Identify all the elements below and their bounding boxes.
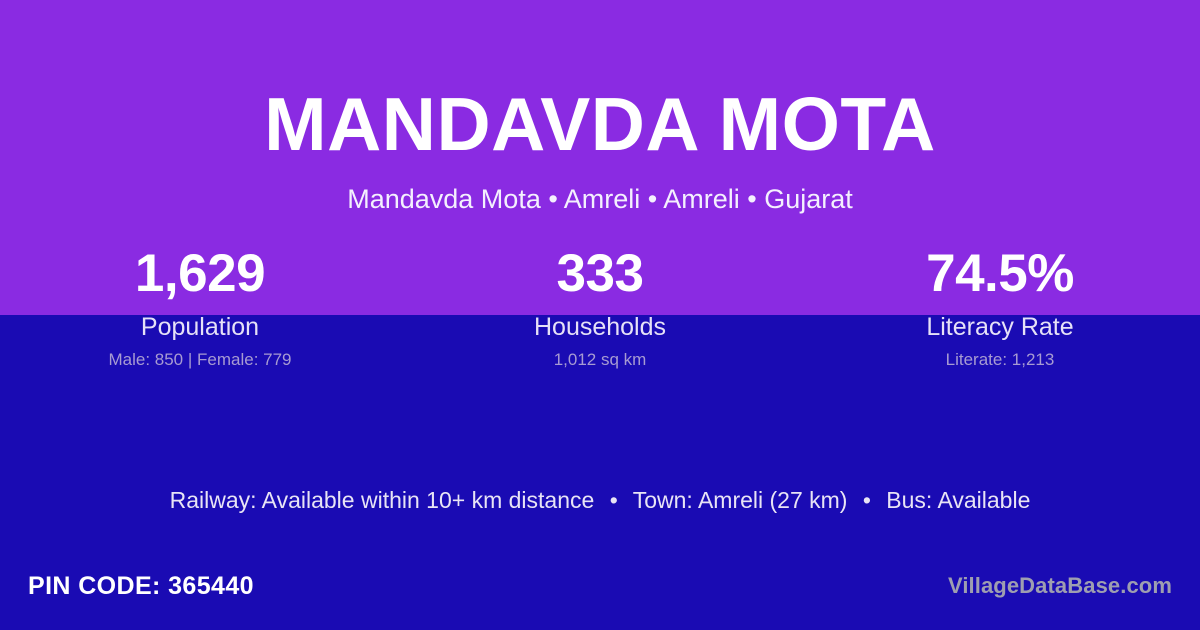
bullet-separator-icon: •: [601, 485, 627, 515]
stat-population-label: Population: [0, 313, 400, 342]
stat-literacy: 74.5% Literacy Rate Literate: 1,213: [800, 243, 1200, 370]
footer: PIN CODE: 365440 VillageDataBase.com: [0, 556, 1200, 630]
stat-households: 333 Households 1,012 sq km: [400, 243, 800, 370]
stat-households-value: 333: [400, 243, 800, 305]
stat-households-label: Households: [400, 313, 800, 342]
breadcrumb: Mandavda Mota • Amreli • Amreli • Gujara…: [0, 182, 1200, 216]
site-brand: VillageDataBase.com: [948, 573, 1172, 599]
transport-row: Railway: Available within 10+ km distanc…: [0, 485, 1200, 515]
transport-bus: Bus: Available: [886, 487, 1030, 513]
transport-town: Town: Amreli (27 km): [633, 487, 848, 513]
page-title: MANDAVDA MOTA: [0, 84, 1200, 164]
transport-railway: Railway: Available within 10+ km distanc…: [170, 487, 595, 513]
stat-literacy-detail: Literate: 1,213: [800, 350, 1200, 370]
stat-literacy-label: Literacy Rate: [800, 313, 1200, 342]
stat-population-detail: Male: 850 | Female: 779: [0, 350, 400, 370]
stat-households-detail: 1,012 sq km: [400, 350, 800, 370]
pin-code: PIN CODE: 365440: [28, 572, 254, 601]
stats-row: 1,629 Population Male: 850 | Female: 779…: [0, 243, 1200, 370]
stat-population-value: 1,629: [0, 243, 400, 305]
stat-literacy-value: 74.5%: [800, 243, 1200, 305]
stat-population: 1,629 Population Male: 850 | Female: 779: [0, 243, 400, 370]
village-info-card: MANDAVDA MOTA Mandavda Mota • Amreli • A…: [0, 0, 1200, 630]
bullet-separator-icon: •: [854, 485, 880, 515]
